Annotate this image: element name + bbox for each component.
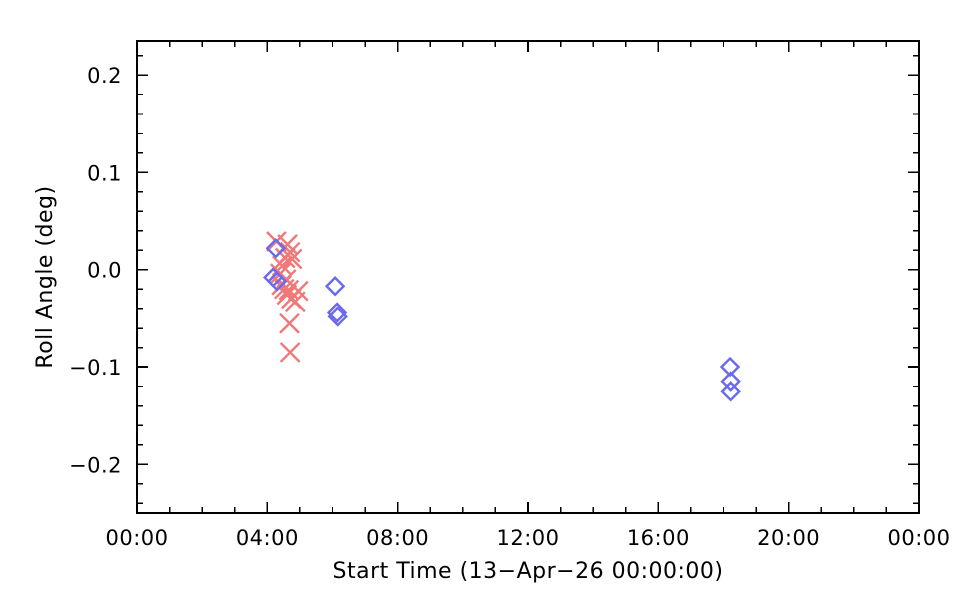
x-tick-label: 08:00 [366,526,429,550]
y-axis-title: Roll Angle (deg) [33,185,58,368]
y-tick-label: 0.1 [87,161,122,185]
x-axis-title: Start Time (13−Apr−26 00:00:00) [333,559,724,584]
x-tick-label: 12:00 [496,526,559,550]
scatter-plot-svg: 00:0004:0008:0012:0016:0020:0000:00 0.20… [0,0,960,600]
x-tick-label: 00:00 [887,526,950,550]
y-tick-label: 0.2 [87,64,122,88]
x-tick-label: 00:00 [105,526,168,550]
x-tick-label: 16:00 [627,526,690,550]
y-tick-label: −0.1 [69,356,122,380]
y-tick-label: −0.2 [69,453,122,477]
y-tick-label: 0.0 [87,259,122,283]
plot-background [0,0,960,600]
chart-container: 00:0004:0008:0012:0016:0020:0000:00 0.20… [0,0,960,600]
x-tick-label: 20:00 [757,526,820,550]
x-tick-label: 04:00 [236,526,299,550]
